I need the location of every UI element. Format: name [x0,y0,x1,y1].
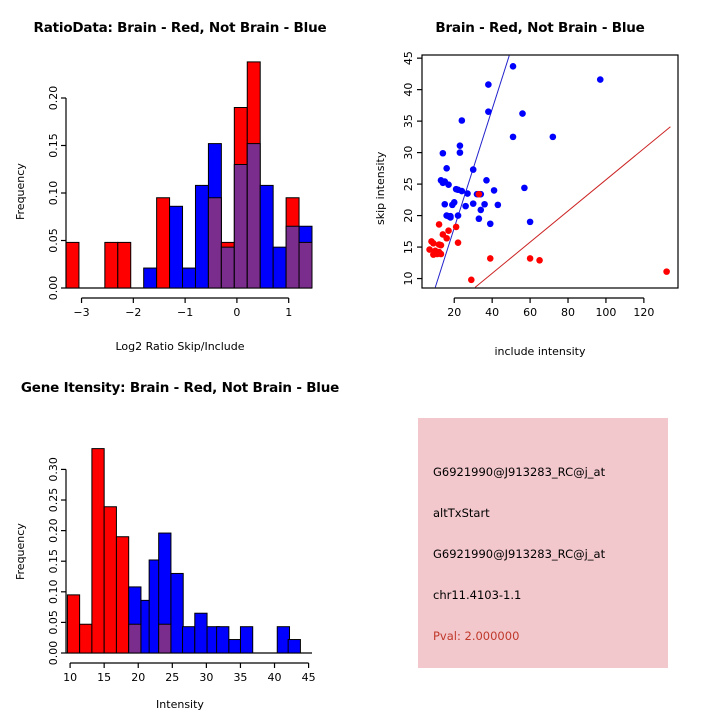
info-line-locus: chr11.4103-1.1 [433,588,521,602]
scatter-point [443,235,450,242]
gene-bar [183,627,195,653]
scatter-point [436,221,443,228]
panel-scatter: Brain - Red, Not Brain - Blue 1015202530… [360,0,720,360]
scatter-y-tick-label: 30 [402,146,415,160]
scatter-point [470,200,477,207]
ratio-bar [66,242,79,288]
ratio-bar [170,206,183,288]
scatter-point [510,63,517,70]
scatter-point [434,251,441,258]
gene-x-tick-label: 35 [233,671,247,684]
ratio-bar-overlap [208,198,221,288]
scatter-point [495,202,502,209]
scatter-point [663,268,670,275]
ratio-y-tick-label: 0.10 [47,181,60,206]
gene-x-tick-label: 45 [302,671,316,684]
scatter-point [485,108,492,115]
scatter-y-tick-label: 35 [402,114,415,128]
gene-y-tick-label: 0.00 [47,641,60,666]
scatter-y-tick-label: 20 [402,209,415,223]
scatter-point [459,117,466,124]
gene-bar [217,627,229,653]
gene-x-tick-label: 20 [131,671,145,684]
scatter-point [453,224,460,231]
scatter-ylabel: skip intensity [374,152,387,225]
scatter-point [470,166,477,173]
ratio-x-tick-label: 1 [285,306,292,319]
gene-bar [67,595,79,653]
ratio-hist-canvas: 0.000.050.100.150.20−3−2−101 [0,0,360,360]
ratio-bar [273,247,286,288]
scatter-point [462,203,469,210]
scatter-y-tick-label: 10 [402,272,415,286]
ratio-x-tick-label: −2 [125,306,141,319]
ratio-bar [195,185,208,288]
gene-x-tick-label: 25 [165,671,179,684]
scatter-point [445,227,452,234]
scatter-point [476,191,483,198]
ratio-bar-overlap [286,226,299,288]
scatter-point [536,257,543,264]
scatter-y-tick-label: 15 [402,240,415,254]
scatter-point [527,255,534,262]
gene-bar-overlap [129,624,141,653]
scatter-point [447,213,454,220]
scatter-point [483,177,490,184]
scatter-point [438,242,445,249]
scatter-point [510,134,517,141]
ratio-bar [144,268,157,288]
ratio-y-tick-label: 0.00 [47,276,60,301]
ratio-hist-xlabel: Log2 Ratio Skip/Include [0,340,360,353]
scatter-point [445,181,452,188]
gene-x-tick-label: 10 [63,671,77,684]
gene-bar [116,537,128,653]
ratio-x-tick-label: −1 [177,306,193,319]
gene-hist-ylabel: Frequency [14,523,27,580]
scatter-point [443,165,450,172]
scatter-x-tick-label: 120 [633,306,654,319]
gene-bar [229,640,241,653]
scatter-point [597,76,604,83]
gene-hist-canvas: 0.000.050.100.150.200.250.30101520253035… [0,360,360,720]
scatter-point [477,207,484,214]
scatter-x-tick-label: 40 [485,306,499,319]
scatter-point [451,199,458,206]
gene-bar [288,640,300,653]
scatter-point [550,134,557,141]
ratio-y-tick-label: 0.05 [47,228,60,253]
ratio-bar [157,198,170,288]
gene-y-tick-label: 0.30 [47,457,60,482]
info-line-event-type: altTxStart [433,506,490,520]
scatter-fit-line-red-fit [475,127,670,288]
scatter-frame [422,55,678,288]
scatter-point [468,277,475,284]
scatter-point [440,150,447,157]
scatter-point [481,201,488,208]
scatter-point [459,188,466,195]
gene-bar-overlap [159,624,171,653]
ratio-y-tick-label: 0.20 [47,86,60,111]
gene-bar [92,449,104,653]
scatter-point [519,110,526,117]
info-line-probeset: G6921990@J913283_RC@j_at [433,465,605,479]
scatter-x-tick-label: 80 [561,306,575,319]
scatter-x-tick-label: 100 [595,306,616,319]
info-line-probeset-2: G6921990@J913283_RC@j_at [433,547,605,561]
scatter-point [457,149,464,156]
scatter-plot-area [426,56,670,288]
scatter-point [485,81,492,88]
scatter-point [455,212,462,219]
scatter-point [527,219,534,226]
gene-y-tick-label: 0.25 [47,488,60,512]
gene-bar [104,507,116,653]
scatter-y-tick-label: 45 [402,51,415,65]
scatter-point [491,187,498,194]
gene-hist-xlabel: Intensity [0,698,360,711]
ratio-bar-overlap [247,144,260,288]
ratio-bar-overlap [221,247,234,288]
gene-y-tick-label: 0.05 [47,610,60,635]
scatter-point [521,185,528,192]
gene-x-tick-label: 15 [97,671,111,684]
ratio-bar [105,242,118,288]
gene-x-tick-label: 30 [199,671,213,684]
scatter-y-tick-label: 40 [402,83,415,97]
scatter-y-tick-label: 25 [402,177,415,191]
ratio-bar-overlap [299,242,312,288]
gene-y-tick-label: 0.10 [47,580,60,605]
ratio-x-tick-label: 0 [233,306,240,319]
panel-info: G6921990@J913283_RC@j_at altTxStart G692… [360,360,720,720]
gene-bar [171,573,183,653]
scatter-point [487,255,494,262]
gene-bar [195,613,207,653]
ratio-hist-ylabel: Frequency [14,163,27,220]
scatter-x-tick-label: 60 [523,306,537,319]
scatter-canvas: 101520253035404520406080100120 [360,0,720,360]
scatter-point [430,240,437,247]
panel-gene-histogram: Gene Itensity: Brain - Red, Not Brain - … [0,360,360,720]
scatter-x-tick-label: 20 [447,306,461,319]
ratio-bar [183,268,196,288]
gene-bar [240,627,252,653]
ratio-y-tick-label: 0.15 [47,133,60,158]
scatter-point [455,239,462,246]
ratio-bar [260,185,273,288]
gene-y-tick-label: 0.15 [47,549,60,574]
panel-ratio-histogram: RatioData: Brain - Red, Not Brain - Blue… [0,0,360,360]
gene-bar [80,624,92,653]
scatter-xlabel: include intensity [360,345,720,358]
ratio-x-tick-label: −3 [73,306,89,319]
scatter-point [464,190,471,197]
scatter-point [441,201,448,208]
plot-page: RatioData: Brain - Red, Not Brain - Blue… [0,0,720,720]
ratio-bar-overlap [234,165,247,289]
ratio-bar [118,242,131,288]
gene-y-tick-label: 0.20 [47,518,60,543]
scatter-point [487,220,494,227]
scatter-point [476,215,483,222]
info-line-pval: Pval: 2.000000 [433,629,519,643]
scatter-point [440,180,447,187]
gene-x-tick-label: 40 [268,671,282,684]
scatter-point [457,142,464,149]
